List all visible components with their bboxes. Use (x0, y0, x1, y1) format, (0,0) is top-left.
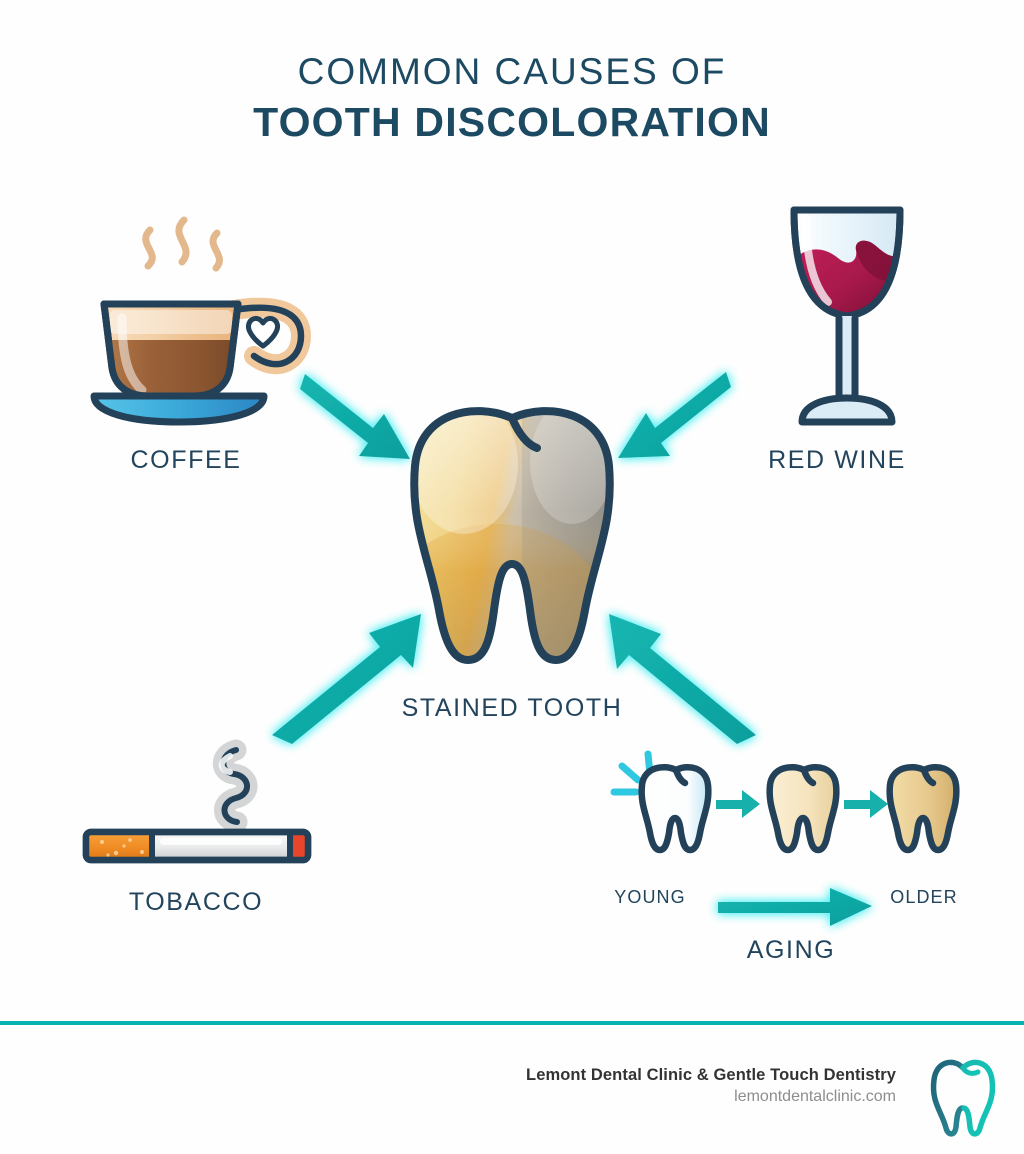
infographic-canvas: COMMON CAUSES OF TOOTH DISCOLORATION (0, 0, 1024, 1154)
wine-glass-icon (766, 200, 946, 440)
cause-coffee[interactable] (88, 206, 318, 436)
brand-logo[interactable] (928, 1054, 1000, 1138)
tooth-logo-icon (928, 1054, 1000, 1138)
arrow-tobacco-to-tooth (272, 614, 421, 744)
title-line-2: TOOTH DISCOLORATION (0, 96, 1024, 148)
footer-text-block: Lemont Dental Clinic & Gentle Touch Dent… (526, 1066, 896, 1106)
aging-older-label: OLDER (866, 887, 982, 908)
red-wine-label: RED WINE (650, 446, 1024, 475)
cause-tobacco[interactable] (80, 736, 330, 866)
aging-young-label: YOUNG (592, 887, 708, 908)
clinic-website[interactable]: lemontdentalclinic.com (526, 1088, 896, 1106)
stained-tooth[interactable] (404, 404, 620, 672)
stained-tooth-label: STAINED TOOTH (332, 694, 692, 723)
page-title: COMMON CAUSES OF TOOTH DISCOLORATION (0, 48, 1024, 148)
footer-divider (0, 1021, 1024, 1025)
title-line-1: COMMON CAUSES OF (0, 48, 1024, 96)
arrow-aging-progress (718, 888, 872, 926)
cause-red-wine[interactable] (766, 200, 946, 440)
cigarette-icon (80, 736, 330, 866)
aging-label: AGING (640, 936, 942, 965)
coffee-cup-icon (88, 206, 318, 436)
clinic-name: Lemont Dental Clinic & Gentle Touch Dent… (526, 1066, 896, 1085)
stained-tooth-icon (404, 404, 620, 672)
aging-teeth-icon (600, 752, 960, 882)
coffee-label: COFFEE (0, 446, 372, 475)
cause-aging[interactable] (600, 752, 960, 882)
tobacco-label: TOBACCO (0, 888, 392, 917)
arrow-aging-to-tooth (609, 614, 756, 744)
